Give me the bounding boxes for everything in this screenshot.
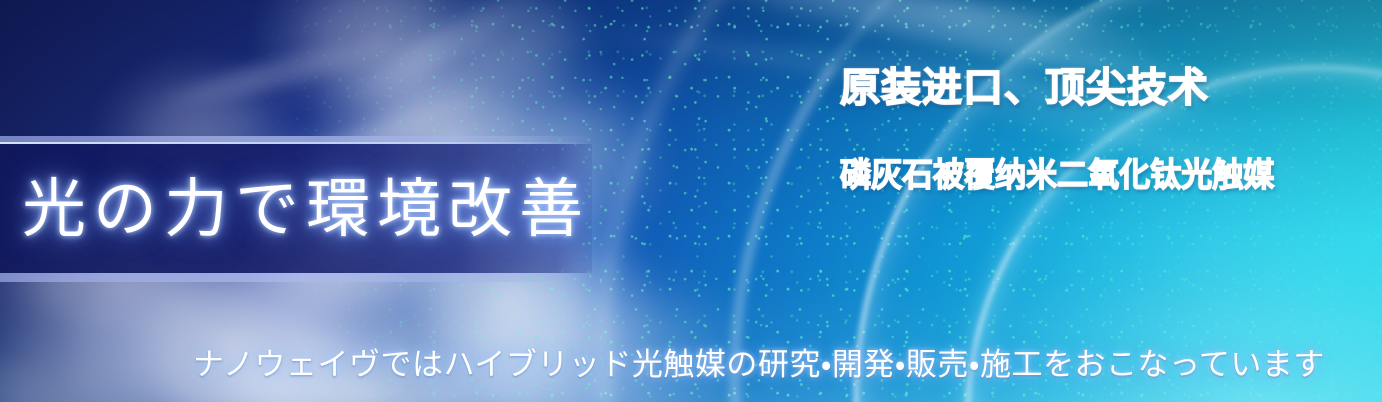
tagline-japanese: ナノウェイヴではハイブリッド光触媒の研究・開発・販売・施工をおこなっています	[193, 348, 1325, 382]
bottom-light-wash	[0, 282, 1382, 402]
headline-japanese: 光の力で環境改善	[22, 177, 590, 241]
band-bottom-edge	[0, 273, 592, 282]
headline-band: 光の力で環境改善	[0, 136, 592, 282]
promo-copy-block: 原装进口、顶尖技术 磷灰石被覆纳米二氧化钛光触媒	[840, 68, 1302, 191]
promo-headline-secondary: 磷灰石被覆纳米二氧化钛光触媒	[840, 158, 1274, 191]
promo-headline-primary: 原装进口、顶尖技术	[840, 68, 1302, 108]
band-top-edge	[0, 136, 592, 144]
hero-banner: 光の力で環境改善 原装进口、顶尖技术 磷灰石被覆纳米二氧化钛光触媒 ナノウェイヴ…	[0, 0, 1382, 402]
